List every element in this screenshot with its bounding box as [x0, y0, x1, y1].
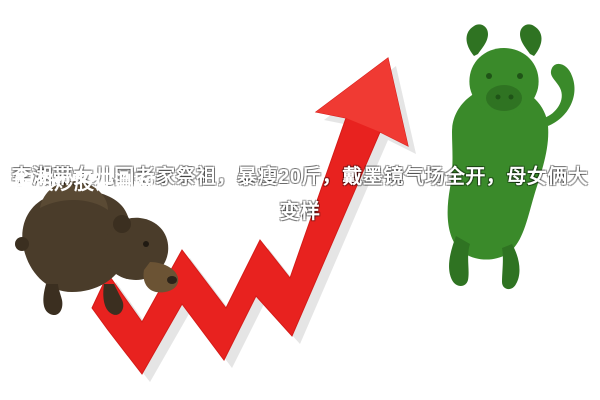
- watermark: 配资炒股评测网: [14, 166, 154, 195]
- screenshot-root: 配资炒股评测网 李湘带女儿回老家祭祖，暴瘦20斤，戴墨镜气场全开，母女俩大变样: [0, 0, 600, 400]
- watermark-text: 配资炒股评测网: [14, 172, 154, 194]
